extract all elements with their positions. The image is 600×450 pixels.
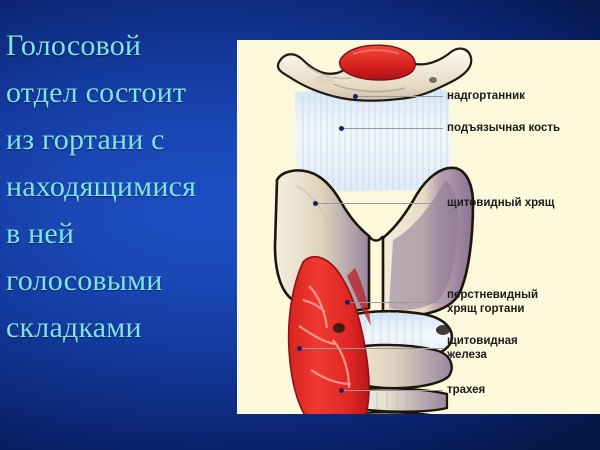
leader-line-thyroid-cartilage (315, 203, 443, 204)
label-trachea: трахея (447, 383, 485, 397)
marker-dot-thyroid-cartilage (313, 201, 318, 206)
label-hyoid-bone: подъязычная кость (447, 121, 560, 135)
caption-line-2: отдел состоит (6, 69, 232, 116)
marker-dot-hyoid-bone (339, 126, 344, 131)
marker-dot-cricoid-cartilage (345, 300, 350, 305)
label-thyroid-cartilage: щитовидный хрящ (447, 196, 554, 210)
leader-line-cricoid-cartilage (347, 302, 443, 303)
label-thyroid-gland: щитовидная железа (447, 334, 518, 362)
label-cricoid-cartilage: перстневидный хрящ гортани (447, 288, 538, 316)
caption-text-block: Голосовой отдел состоит из гортани с нах… (6, 22, 232, 351)
label-epiglottis: надгортанник (447, 89, 525, 103)
marker-dot-thyroid-gland (297, 346, 302, 351)
presentation-slide: Голосовой отдел состоит из гортани с нах… (0, 0, 600, 450)
anatomy-diagram-panel: надгортанник подъязычная кость щитовидны… (237, 40, 600, 414)
caption-line-4: находящимися (6, 163, 232, 210)
leader-line-epiglottis (355, 96, 443, 97)
leader-line-trachea (341, 390, 443, 391)
caption-line-1: Голосовой (6, 22, 232, 69)
caption-line-7: складками (6, 304, 232, 351)
leader-line-thyroid-gland (299, 348, 443, 349)
leader-line-hyoid-bone (341, 128, 443, 129)
caption-line-5: в ней (6, 210, 232, 257)
caption-line-6: голосовыми (6, 257, 232, 304)
caption-line-3: из гортани с (6, 116, 232, 163)
marker-dot-epiglottis (353, 94, 358, 99)
marker-dot-trachea (339, 388, 344, 393)
